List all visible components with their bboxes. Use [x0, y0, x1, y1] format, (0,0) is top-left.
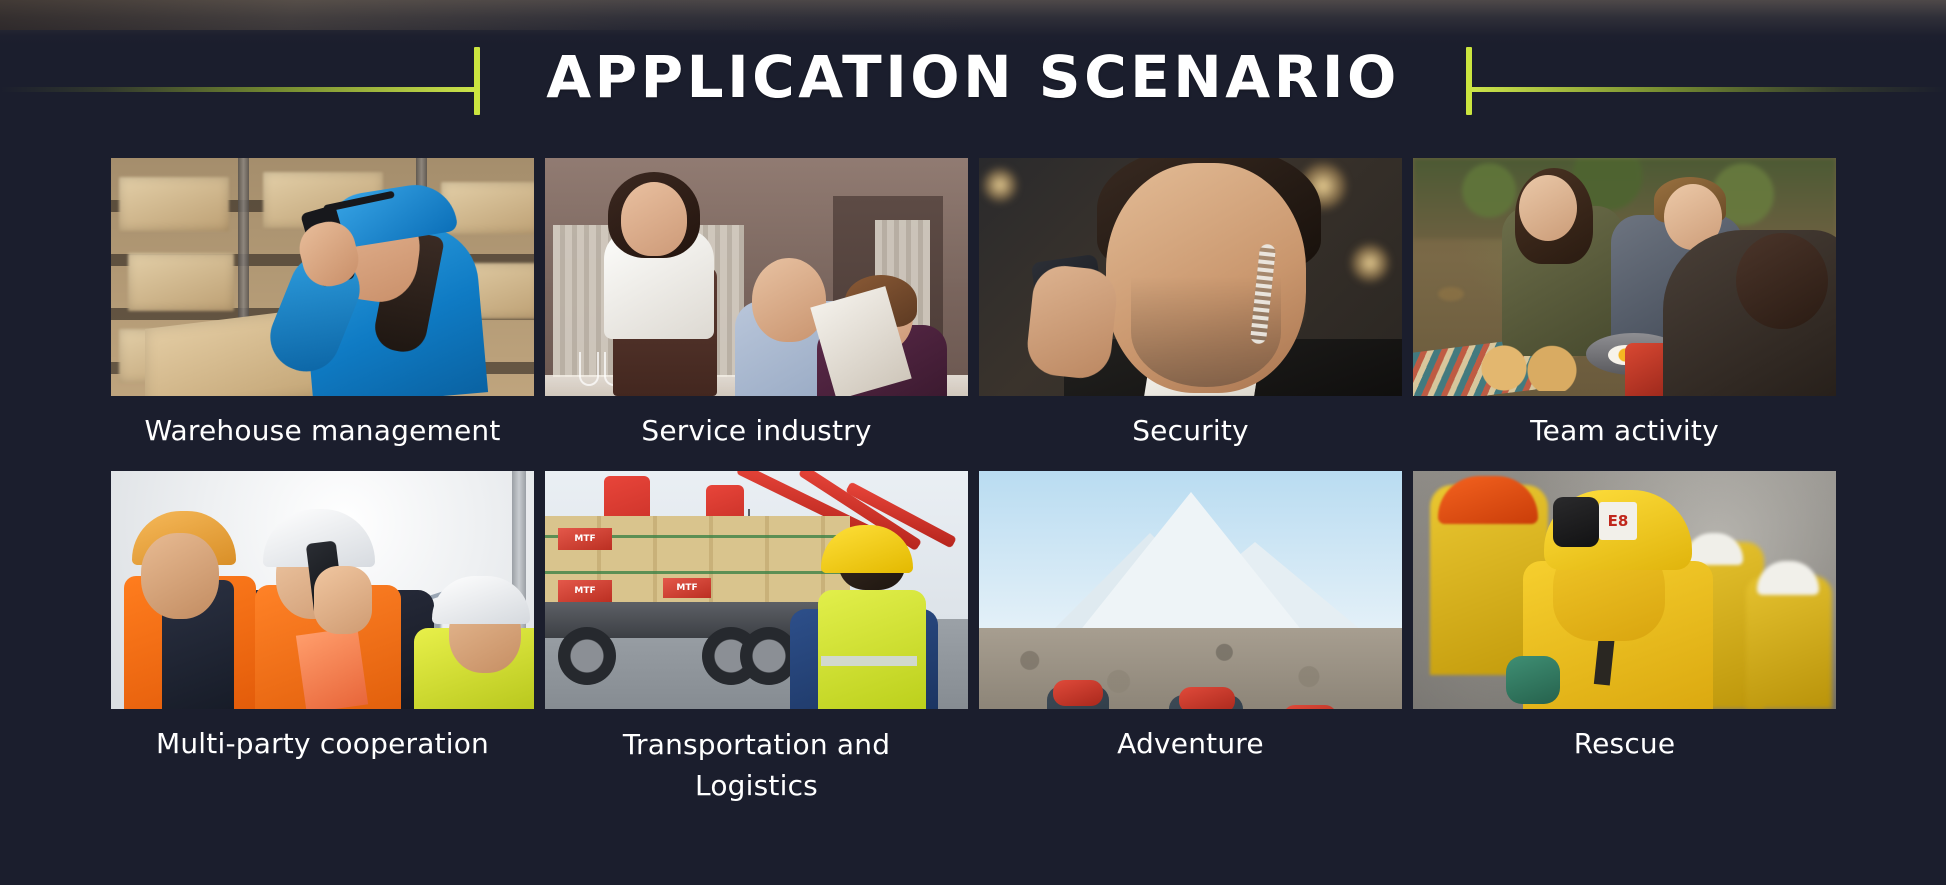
scenario-card-security[interactable]: Security — [979, 158, 1402, 451]
application-scenario-section: APPLICATION SCENARIO — [0, 0, 1946, 885]
service-industry-photo — [545, 158, 968, 396]
scenario-image-adventure[interactable] — [979, 471, 1402, 709]
label-line-1: Transportation and — [623, 728, 890, 761]
scenario-image-security[interactable] — [979, 158, 1402, 396]
scenario-card-service-industry[interactable]: Service industry — [545, 158, 968, 451]
page-title: APPLICATION SCENARIO — [0, 42, 1946, 112]
label-line-2: Logistics — [695, 769, 818, 802]
scenario-label-service-industry: Service industry — [545, 411, 968, 451]
scenario-card-adventure[interactable]: Adventure — [979, 471, 1402, 806]
scenario-image-service-industry[interactable] — [545, 158, 968, 396]
cargo-label: MTF — [558, 580, 612, 602]
warehouse-photo — [111, 158, 534, 396]
rescue-photo: E8 — [1413, 471, 1836, 709]
transportation-logistics-photo: MTF MTF MTF — [545, 471, 968, 709]
scenario-label-security: Security — [979, 411, 1402, 451]
scenario-label-rescue: Rescue — [1413, 724, 1836, 764]
scenario-card-rescue[interactable]: E8 Rescue — [1413, 471, 1836, 806]
scenario-label-transportation-and-logistics: Transportation and Logistics — [545, 724, 968, 806]
scenario-row-1: Warehouse management — [111, 158, 1835, 451]
cargo-label: MTF — [558, 528, 612, 550]
scenario-label-multi-party-cooperation: Multi-party cooperation — [111, 724, 534, 764]
section-header: APPLICATION SCENARIO — [0, 14, 1946, 110]
scenario-label-warehouse-management: Warehouse management — [111, 411, 534, 451]
adventure-photo — [979, 471, 1402, 709]
scenario-image-multi-party-cooperation[interactable] — [111, 471, 534, 709]
scenario-image-transportation-and-logistics[interactable]: MTF MTF MTF — [545, 471, 968, 709]
scenario-image-warehouse-management[interactable] — [111, 158, 534, 396]
helmet-badge: E8 — [1599, 502, 1637, 540]
scenario-grid: Warehouse management — [111, 158, 1835, 806]
multi-party-cooperation-photo — [111, 471, 534, 709]
scenario-card-warehouse-management[interactable]: Warehouse management — [111, 158, 534, 451]
security-photo — [979, 158, 1402, 396]
cargo-label: MTF — [663, 578, 711, 598]
team-activity-photo — [1413, 158, 1836, 396]
scenario-label-team-activity: Team activity — [1413, 411, 1836, 451]
scenario-card-multi-party-cooperation[interactable]: Multi-party cooperation — [111, 471, 534, 806]
scenario-card-team-activity[interactable]: Team activity — [1413, 158, 1836, 451]
scenario-image-rescue[interactable]: E8 — [1413, 471, 1836, 709]
scenario-label-adventure: Adventure — [979, 724, 1402, 764]
scenario-image-team-activity[interactable] — [1413, 158, 1836, 396]
scenario-row-2: Multi-party cooperation — [111, 471, 1835, 806]
scenario-card-transportation-and-logistics[interactable]: MTF MTF MTF Transpor — [545, 471, 968, 806]
